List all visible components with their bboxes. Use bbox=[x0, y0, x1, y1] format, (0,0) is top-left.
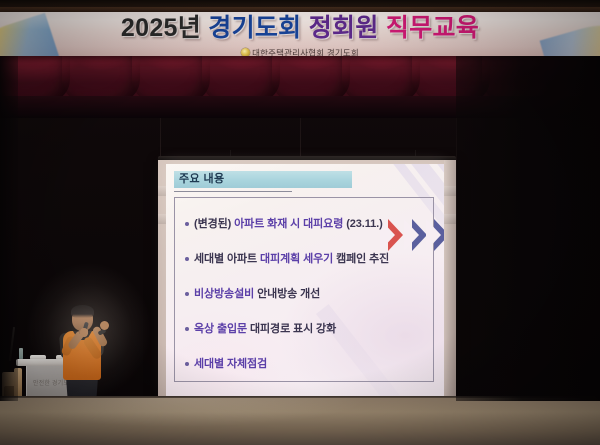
list-item: 옥상 출입문 대피경로 표시 강화 bbox=[174, 312, 434, 347]
presenter-hair bbox=[71, 305, 94, 318]
bullet-tail: 캠페인 추진 bbox=[333, 253, 389, 265]
bullet-dot-icon bbox=[185, 222, 189, 226]
bullet-text: 세대별 자체점검 bbox=[194, 357, 267, 371]
event-banner: 2025년 경기도회 정회원 직무교육 대한주택관리사협회 경기도회 bbox=[0, 12, 600, 56]
list-item: 비상방송설비 안내방송 개선 bbox=[174, 276, 434, 311]
bullet-dot-icon bbox=[185, 292, 189, 296]
slide-header-title: 주요 내용 bbox=[179, 172, 225, 187]
banner-title-subject: 직무교육 bbox=[386, 14, 479, 42]
projected-slide: 주요 내용 (변경된) 아파트 화재 시 대피요령 (23.11.) 세대별 아… bbox=[166, 164, 444, 396]
bullet-highlight: 세대별 자체점검 bbox=[194, 358, 267, 370]
bullet-tail: (23.11.) bbox=[343, 218, 382, 230]
bullet-text: (변경된) 아파트 화재 시 대피요령 (23.11.) bbox=[194, 217, 383, 231]
bullet-tail: 안내방송 개선 bbox=[254, 288, 320, 300]
presenter-hand bbox=[100, 321, 109, 330]
slide-header-rule bbox=[174, 191, 292, 192]
banner-title: 2025년 경기도회 정회원 직무교육 bbox=[0, 13, 600, 43]
floor bbox=[0, 398, 600, 445]
seminar-photo: 2025년 경기도회 정회원 직무교육 대한주택관리사협회 경기도회 주요 내용 bbox=[0, 0, 600, 445]
banner-subtitle: 대한주택관리사협회 경기도회 bbox=[252, 48, 359, 56]
banner-subtitle-row: 대한주택관리사협회 경기도회 bbox=[0, 48, 600, 56]
bullet-tail: 대피경로 표시 강화 bbox=[247, 323, 336, 335]
bullet-text: 옥상 출입문 대피경로 표시 강화 bbox=[194, 322, 336, 336]
room-right-shadow bbox=[456, 56, 600, 401]
association-emblem-icon bbox=[241, 48, 250, 56]
bullet-dot-icon bbox=[185, 257, 189, 261]
bullet-lead: (변경된) bbox=[194, 218, 234, 230]
ceiling-shadow bbox=[0, 0, 600, 7]
bullet-dot-icon bbox=[185, 362, 189, 366]
bullet-highlight: 옥상 출입문 bbox=[194, 323, 247, 335]
bullet-lead: 세대별 아파트 bbox=[194, 253, 260, 265]
room-left-shadow bbox=[0, 56, 18, 401]
banner-title-member: 정회원 bbox=[309, 14, 379, 42]
banner-title-region: 경기도회 bbox=[208, 14, 301, 42]
list-item: (변경된) 아파트 화재 시 대피요령 (23.11.) bbox=[174, 206, 434, 241]
bullet-highlight: 비상방송설비 bbox=[194, 288, 254, 300]
list-item: 세대별 자체점검 bbox=[174, 347, 434, 382]
slide-bullet-list: (변경된) 아파트 화재 시 대피요령 (23.11.) 세대별 아파트 대피계… bbox=[174, 197, 434, 382]
bullet-dot-icon bbox=[185, 327, 189, 331]
bullet-text: 세대별 아파트 대피계획 세우기 캠페인 추진 bbox=[194, 252, 389, 266]
bullet-highlight: 대피계획 세우기 bbox=[260, 253, 333, 265]
podium-label: 안전한 경기도 bbox=[30, 380, 72, 388]
bullet-text: 비상방송설비 안내방송 개선 bbox=[194, 287, 320, 301]
bullet-highlight: 아파트 화재 시 대피요령 bbox=[234, 218, 343, 230]
presenter-hand bbox=[80, 328, 88, 337]
list-item: 세대별 아파트 대피계획 세우기 캠페인 추진 bbox=[174, 241, 434, 276]
banner-title-year: 2025년 bbox=[121, 14, 201, 42]
